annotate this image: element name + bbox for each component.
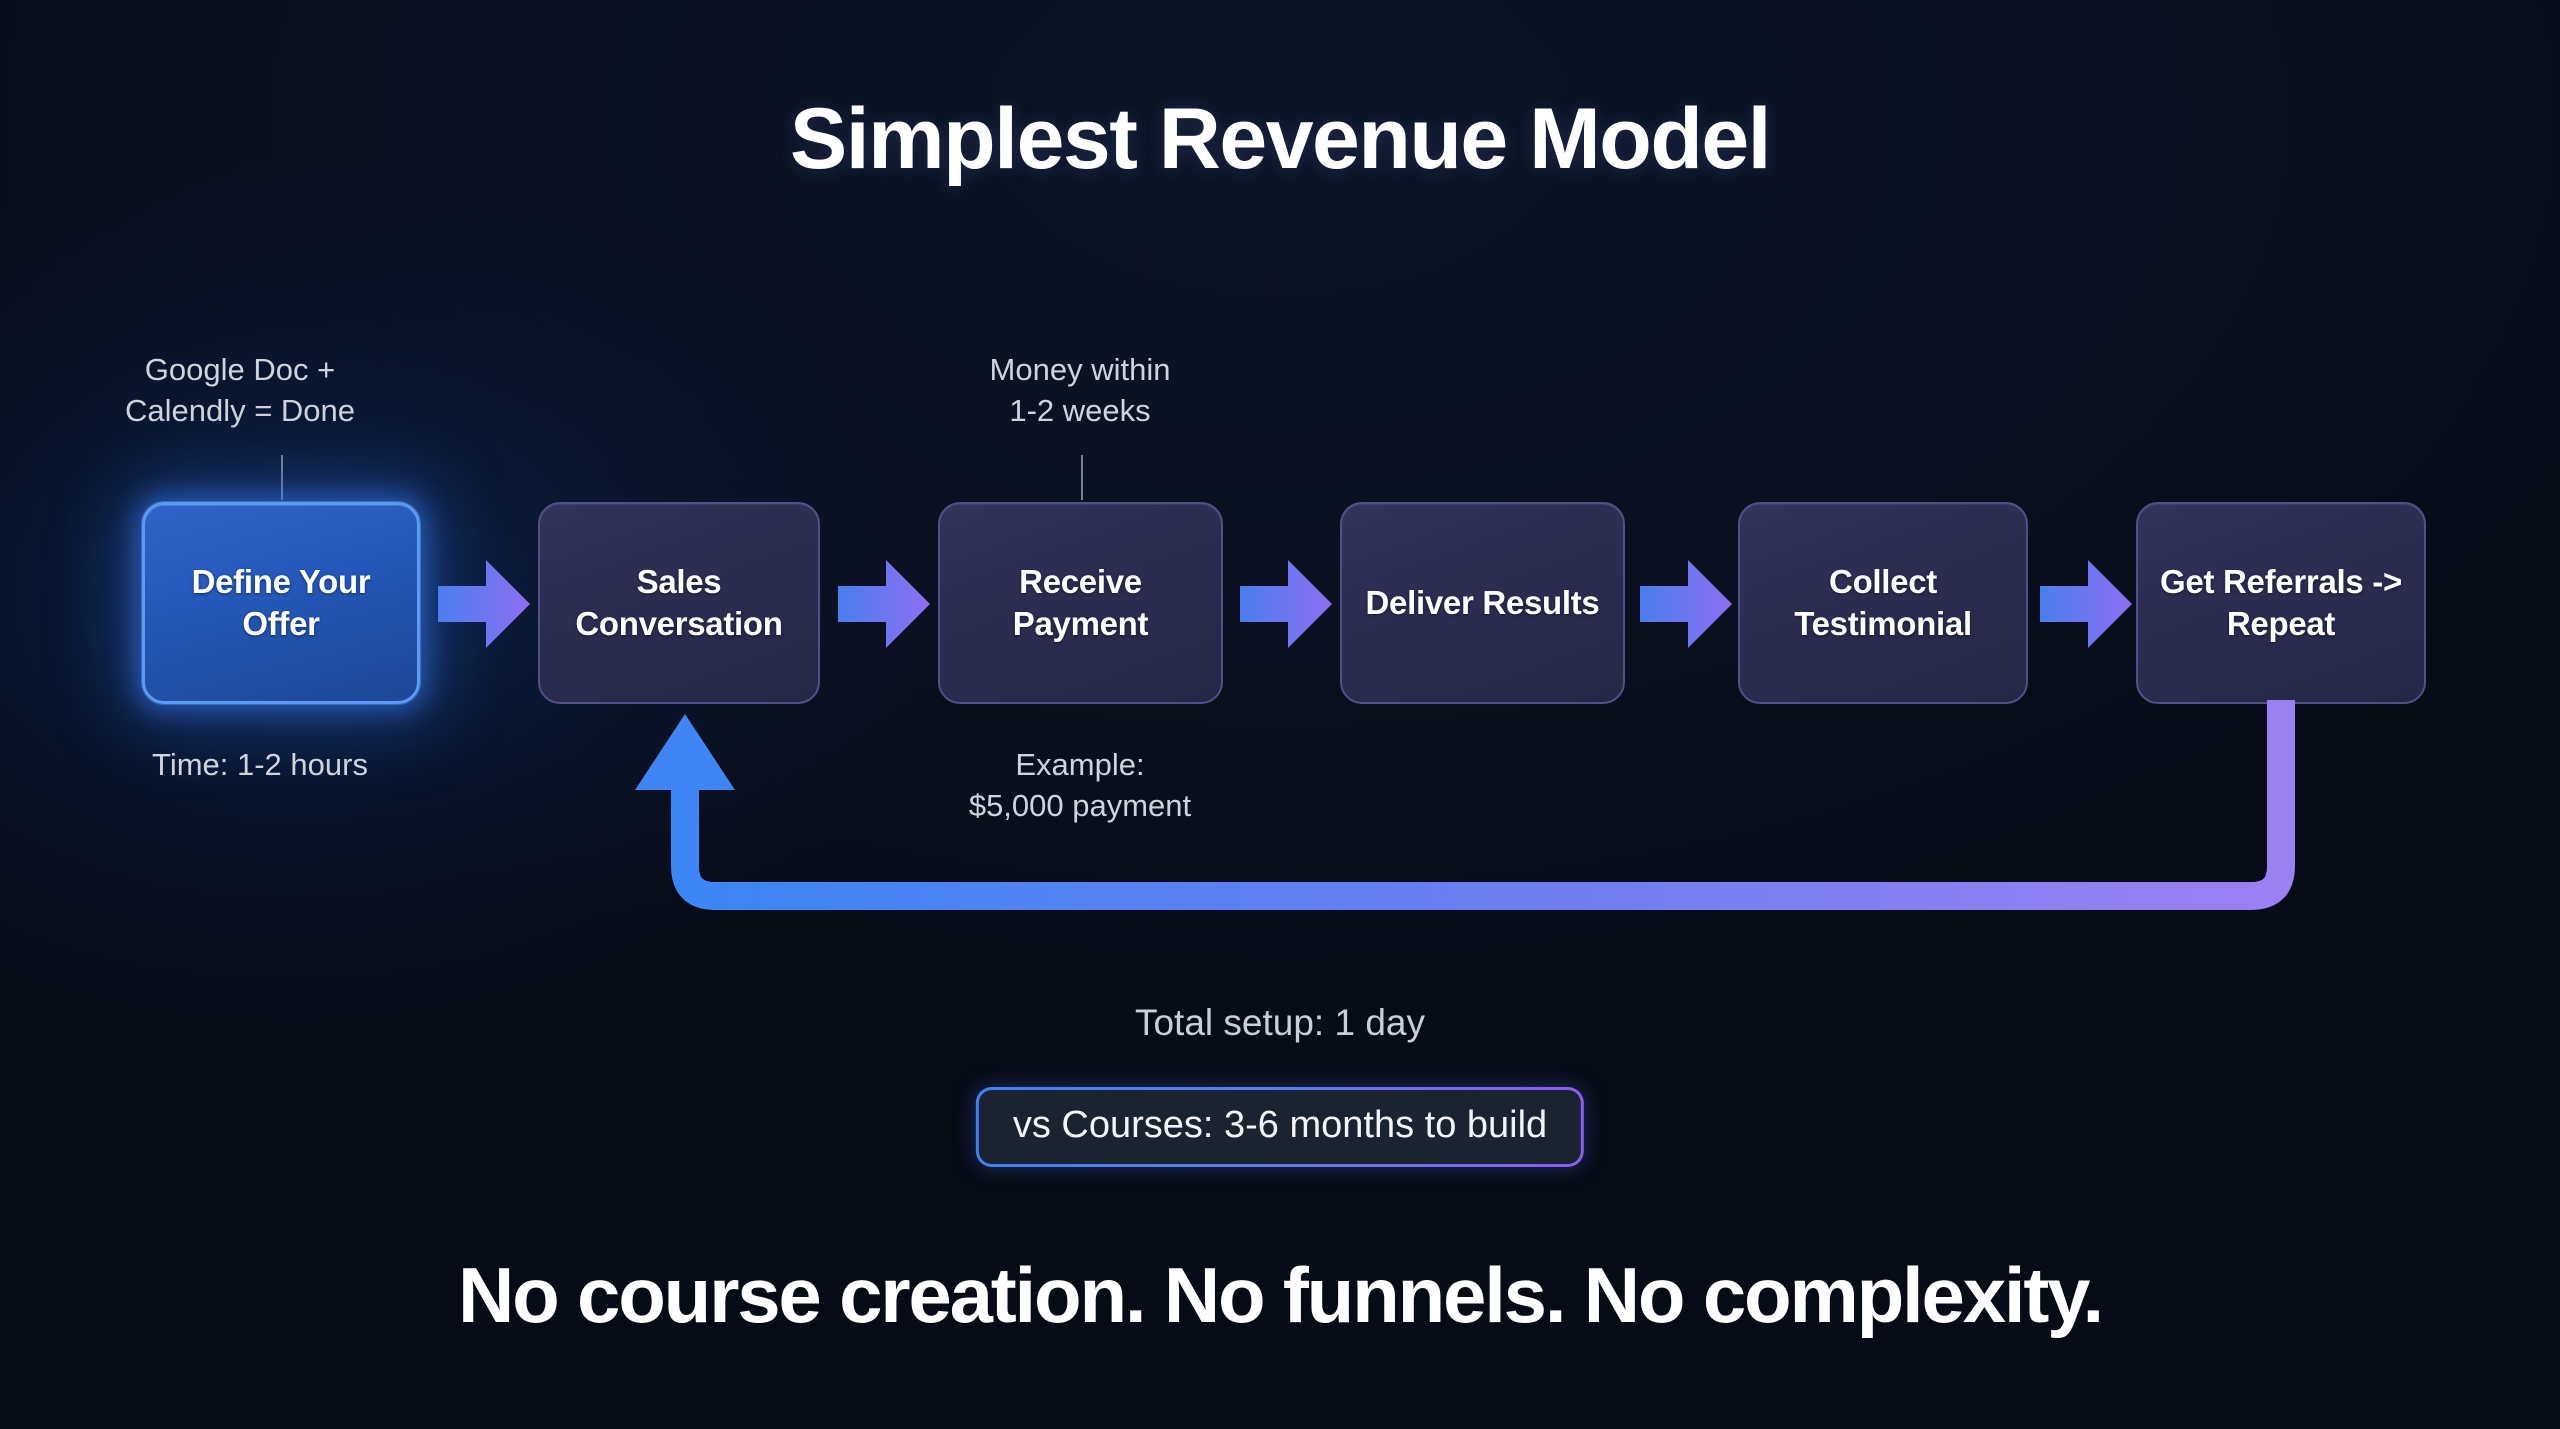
- chevron-right-arrow-icon-4: [1640, 556, 1732, 652]
- flow-node-deliver-results[interactable]: Deliver Results: [1340, 502, 1625, 704]
- flow-node-sales-conversation[interactable]: Sales Conversation: [538, 502, 820, 704]
- total-setup-text: Total setup: 1 day: [0, 1002, 2560, 1044]
- flow-node-collect-testimonial[interactable]: Collect Testimonial: [1738, 502, 2028, 704]
- comparison-badge-label: vs Courses: 3-6 months to build: [979, 1090, 1581, 1164]
- flow-node-get-referrals-repeat[interactable]: Get Referrals -> Repeat: [2136, 502, 2426, 704]
- chevron-right-arrow-icon-2: [838, 556, 930, 652]
- annotation-above-define-your-offer: Google Doc + Calendly = Done: [40, 350, 440, 432]
- tagline-text: No course creation. No funnels. No compl…: [0, 1250, 2560, 1341]
- flow-node-label: Receive Payment: [940, 561, 1221, 645]
- annotation-above-receive-payment: Money within 1-2 weeks: [880, 350, 1280, 432]
- flow-node-label: Define Your Offer: [145, 561, 417, 645]
- comparison-badge: vs Courses: 3-6 months to build: [976, 1087, 1584, 1167]
- slide-canvas: Simplest Revenue Model Google Doc + Cale…: [0, 0, 2560, 1429]
- leader-line-define-your-offer: [281, 455, 283, 500]
- chevron-right-arrow-icon-1: [438, 556, 530, 652]
- chevron-right-arrow-icon-5: [2040, 556, 2132, 652]
- leader-line-receive-payment: [1081, 455, 1083, 500]
- flow-node-label: Get Referrals -> Repeat: [2138, 561, 2424, 645]
- flow-node-define-your-offer[interactable]: Define Your Offer: [142, 502, 420, 704]
- annotation-below-define-your-offer: Time: 1-2 hours: [40, 745, 480, 786]
- page-title: Simplest Revenue Model: [0, 90, 2560, 189]
- chevron-right-arrow-icon-3: [1240, 556, 1332, 652]
- loop-back-arrow-icon: [580, 700, 2320, 960]
- flow-node-label: Sales Conversation: [540, 561, 818, 645]
- flow-node-receive-payment[interactable]: Receive Payment: [938, 502, 1223, 704]
- flow-node-label: Collect Testimonial: [1740, 561, 2026, 645]
- annotation-below-receive-payment: Example: $5,000 payment: [880, 745, 1280, 827]
- flow-node-label: Deliver Results: [1356, 582, 1610, 624]
